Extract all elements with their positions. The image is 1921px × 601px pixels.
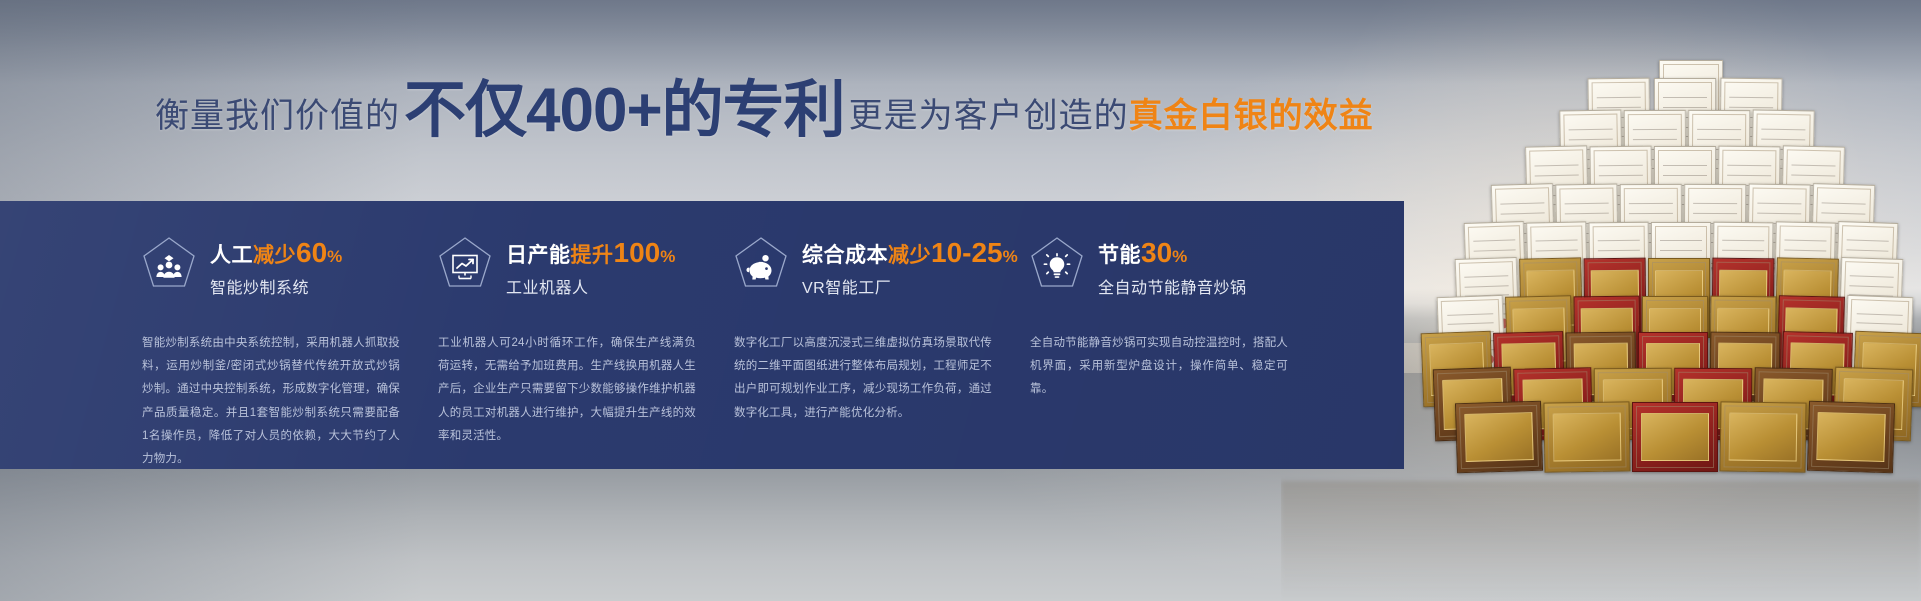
feature-item: 日产能提升100%工业机器人工业机器人可24小时循环工作，确保生产线满负荷运转，… [438, 234, 734, 471]
certificate-item [1632, 402, 1718, 472]
lightbulb-icon [1030, 236, 1084, 296]
feature-title: 日产能提升100% [506, 238, 675, 267]
headline-emphasis: 不仅400+的专利 [400, 80, 849, 142]
plaque-face [1729, 412, 1797, 462]
plaque-face [1817, 411, 1886, 462]
feature-title-group: 日产能提升100%工业机器人 [506, 234, 675, 298]
feature-title-number: 100 [614, 237, 661, 268]
feature-subtitle: 智能炒制系统 [210, 274, 342, 298]
piggy-bank-icon [734, 236, 788, 296]
feature-panel: 人工减少60%智能炒制系统智能炒制系统由中央系统控制，采用机器人抓取投料，运用炒… [0, 201, 1404, 469]
feature-item: 人工减少60%智能炒制系统智能炒制系统由中央系统控制，采用机器人抓取投料，运用炒… [142, 234, 438, 471]
feature-subtitle: VR智能工厂 [802, 274, 1018, 298]
feature-subtitle: 全自动节能静音炒锅 [1098, 274, 1247, 298]
feature-title-group: 节能30%全自动节能静音炒锅 [1098, 234, 1247, 298]
certificate-item [1807, 401, 1895, 474]
people-group-icon [142, 236, 196, 296]
feature-list: 人工减少60%智能炒制系统智能炒制系统由中央系统控制，采用机器人抓取投料，运用炒… [142, 234, 1327, 471]
feature-title-number: 30 [1141, 237, 1172, 268]
certificate-item [1719, 401, 1806, 472]
headline-lead: 衡量我们价值的 [155, 88, 400, 137]
feature-title-prefix: 日产能 [506, 244, 571, 267]
certificate-item [1543, 401, 1630, 472]
feature-header: 节能30%全自动节能静音炒锅 [1030, 234, 1292, 308]
feature-header: 日产能提升100%工业机器人 [438, 234, 700, 308]
feature-subtitle: 工业机器人 [506, 274, 675, 298]
feature-title-unit: % [1172, 247, 1187, 266]
feature-title: 综合成本减少10-25% [802, 238, 1018, 267]
feature-body-text: 工业机器人可24小时循环工作，确保生产线满负荷运转，无需给予加班费用。生产线换用… [438, 332, 696, 448]
plaque-face [1553, 412, 1621, 462]
feature-title-number: 60 [296, 237, 327, 268]
feature-body-text: 全自动节能静音炒锅可实现自动控温控时，搭配人机界面，采用新型炉盘设计，操作简单、… [1030, 332, 1288, 402]
chart-board-icon [438, 236, 492, 296]
page-headline: 衡量我们价值的 不仅400+的专利 更是为客户创造的 真金白银的效益 [155, 76, 1374, 138]
headline-highlight: 真金白银的效益 [1129, 88, 1374, 137]
certificate-item [1455, 401, 1543, 474]
feature-item: 节能30%全自动节能静音炒锅全自动节能静音炒锅可实现自动控温控时，搭配人机界面，… [1030, 234, 1326, 471]
feature-title: 节能30% [1098, 238, 1247, 267]
feature-title-group: 人工减少60%智能炒制系统 [210, 234, 342, 298]
feature-title-keyword: 减少 [253, 244, 296, 267]
feature-body-text: 数字化工厂以高度沉浸式三维虚拟仿真场景取代传统的二维平面图纸进行整体布局规划，工… [734, 332, 992, 425]
feature-title-unit: % [1003, 247, 1018, 266]
feature-item: 综合成本减少10-25%VR智能工厂数字化工厂以高度沉浸式三维虚拟仿真场景取代传… [734, 234, 1030, 471]
feature-title-keyword: 减少 [888, 244, 931, 267]
headline-middle: 更是为客户创造的 [849, 88, 1129, 137]
feature-body-text: 智能炒制系统由中央系统控制，采用机器人抓取投料，运用炒制釜/密闭式炒锅替代传统开… [142, 332, 400, 471]
feature-title-unit: % [327, 247, 342, 266]
plaque-face [1641, 413, 1708, 462]
feature-title-keyword: 提升 [571, 244, 614, 267]
feature-header: 综合成本减少10-25%VR智能工厂 [734, 234, 996, 308]
feature-header: 人工减少60%智能炒制系统 [142, 234, 404, 308]
feature-title-prefix: 人工 [210, 244, 253, 267]
feature-title-unit: % [660, 247, 675, 266]
wall-reflection [1281, 481, 1921, 601]
plaque-face [1465, 411, 1534, 462]
feature-title-group: 综合成本减少10-25%VR智能工厂 [802, 234, 1018, 298]
feature-title-number: 10-25 [931, 237, 1003, 268]
feature-title: 人工减少60% [210, 238, 342, 267]
feature-title-prefix: 综合成本 [802, 244, 888, 267]
feature-title-prefix: 节能 [1098, 244, 1141, 267]
